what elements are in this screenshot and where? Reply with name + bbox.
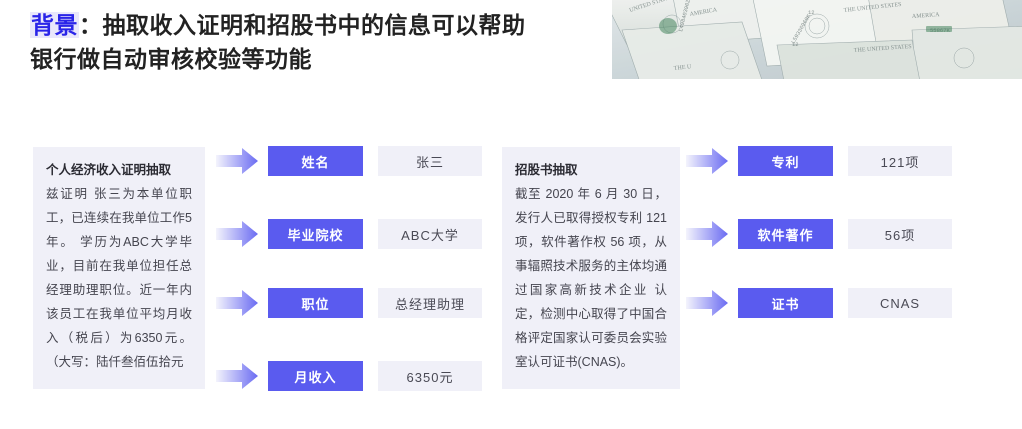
- field-label-software-copyright: 软件著作: [738, 219, 833, 249]
- arrow-right-icon: [686, 290, 728, 316]
- page-title: 背景：抽取收入证明和招股书中的信息可以帮助 银行做自动审核校验等功能: [30, 8, 600, 76]
- field-label-patent: 专利: [738, 146, 833, 176]
- field-value-certificate: CNAS: [848, 288, 952, 318]
- field-value-position: 总经理助理: [378, 288, 482, 318]
- field-value-school: ABC大学: [378, 219, 482, 249]
- title-keyword: 背景: [30, 12, 79, 38]
- arrow-right-icon: [216, 221, 258, 247]
- source-panel-income-certificate: 个人经济收入证明抽取 兹证明 张三为本单位职工，已连续在我单位工作5年。 学历为…: [33, 147, 205, 389]
- left-panel-body: 兹证明 张三为本单位职工，已连续在我单位工作5年。 学历为ABC大学毕业，目前在…: [46, 182, 192, 374]
- right-panel-title: 招股书抽取: [515, 159, 667, 181]
- us-dollar-bills-photo: UNITED STATES AMERICA THE UNITED STATES …: [612, 0, 1022, 79]
- title-line-1: 背景：抽取收入证明和招股书中的信息可以帮助: [30, 8, 600, 42]
- field-value-monthly-income: 6350元: [378, 361, 482, 391]
- arrow-right-icon: [686, 148, 728, 174]
- arrow-right-icon: [216, 363, 258, 389]
- title-line-2: 银行做自动审核校验等功能: [30, 42, 600, 76]
- field-value-patent: 121项: [848, 146, 952, 176]
- field-label-monthly-income: 月收入: [268, 361, 363, 391]
- field-label-position: 职位: [268, 288, 363, 318]
- left-panel-title: 个人经济收入证明抽取: [46, 159, 192, 181]
- field-label-certificate: 证书: [738, 288, 833, 318]
- field-value-name: 张三: [378, 146, 482, 176]
- source-panel-prospectus: 招股书抽取 截至 2020 年 6 月 30 日，发行人已取得授权专利 121 …: [502, 147, 680, 389]
- field-label-school: 毕业院校: [268, 219, 363, 249]
- right-panel-body: 截至 2020 年 6 月 30 日，发行人已取得授权专利 121 项，软件著作…: [515, 182, 667, 374]
- arrow-right-icon: [686, 221, 728, 247]
- field-value-software-copyright: 56项: [848, 219, 952, 249]
- arrow-right-icon: [216, 290, 258, 316]
- arrow-right-icon: [216, 148, 258, 174]
- title-line-1-rest: ：抽取收入证明和招股书中的信息可以帮助: [79, 12, 526, 38]
- slide-canvas: 背景：抽取收入证明和招股书中的信息可以帮助 银行做自动审核校验等功能: [0, 0, 1022, 429]
- field-label-name: 姓名: [268, 146, 363, 176]
